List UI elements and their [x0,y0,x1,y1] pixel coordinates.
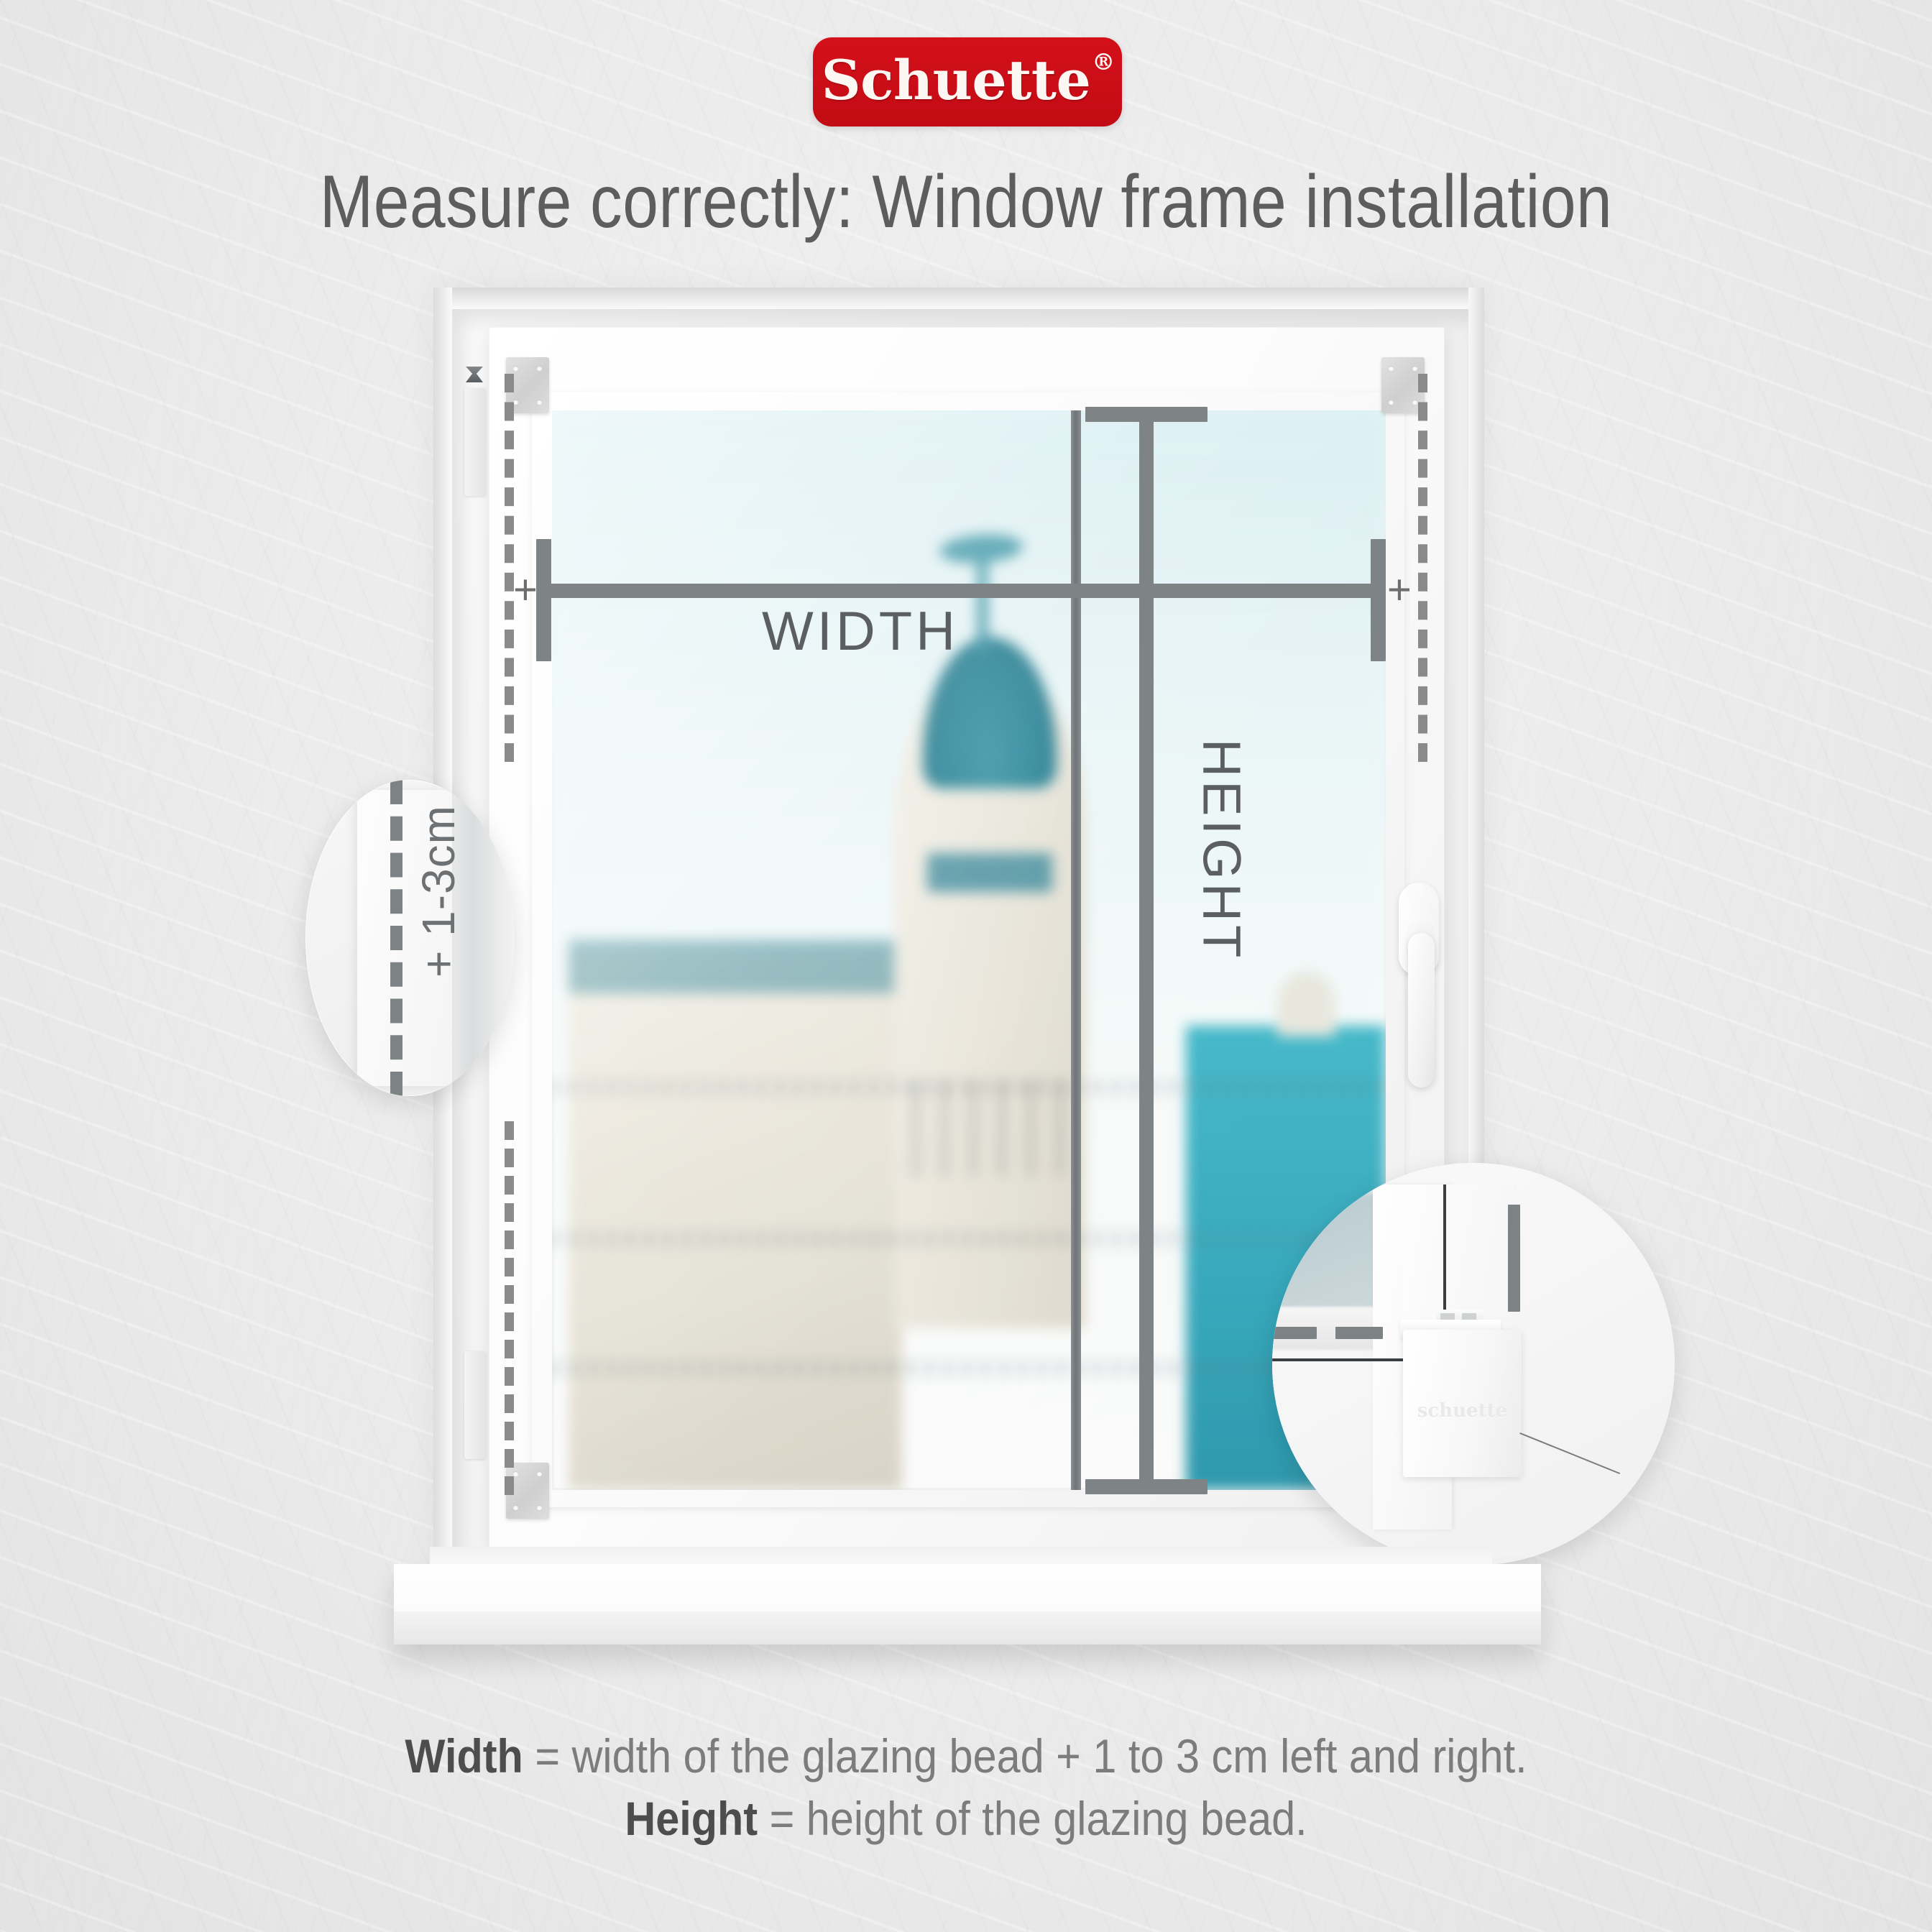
height-measure-bar [1139,407,1154,1494]
bracket-detail-magnifier: schuette [1272,1163,1675,1565]
window-mullion [1071,410,1082,1490]
width-measure-bar [536,584,1386,598]
plus-marker-right: + [1387,569,1412,611]
height-end-cap-bottom [1085,1479,1207,1494]
detail-seam-horizontal [1272,1358,1403,1361]
window-sill [394,1564,1541,1644]
building-window-row [552,1361,1386,1376]
dashed-guide-right [1418,374,1427,762]
width-end-cap-left [536,539,551,661]
caption-line-height: Height = height of the glazing bead. [96,1788,1835,1850]
left-building [569,950,902,1490]
city-view-image [552,410,1386,1490]
tolerance-magnifier-content: + 1-3cm [305,780,514,1096]
detail-seam-vertical [1443,1184,1446,1321]
magnifier-dashed-line [390,780,402,1096]
reveal-bevel-top [433,287,1484,309]
caption-height-text: = height of the glazing bead. [758,1792,1307,1845]
brand-name: Schuette [822,53,1091,108]
sill-top-surface [394,1564,1541,1611]
dashed-guide-left-lower [505,1121,514,1495]
bracket-detail-content: schuette [1272,1163,1675,1565]
detail-frame-upper [1402,1184,1517,1328]
caption-height-label: Height [625,1792,758,1845]
right-dome [1277,972,1335,1036]
tolerance-magnifier: + 1-3cm [305,780,514,1096]
tolerance-label: + 1-3cm [412,783,465,999]
sill-front-edge [394,1611,1541,1644]
brand-logo: Schuette ® [813,37,1122,126]
caption-block: Width = width of the glazing bead + 1 to… [0,1725,1932,1850]
detail-dash-segment [1508,1260,1520,1312]
detail-dash-segment [1335,1327,1383,1339]
handle-lever [1408,933,1435,1087]
width-label: WIDTH [762,600,959,663]
detail-brand-text: schuette [1403,1400,1522,1422]
page-title: Measure correctly: Window frame installa… [135,160,1797,245]
left-building-roof [569,939,902,993]
window-glass [552,410,1386,1490]
building-window-row [552,1231,1386,1246]
width-end-cap-right [1371,539,1386,661]
plus-marker-left: + [513,569,538,611]
poster-canvas: Schuette ® Measure correctly: Window fra… [0,0,1932,1932]
glazing-bead [552,410,1386,1490]
hinge-plate-bottom [464,1351,486,1459]
caption-width-text: = width of the glazing bead + 1 to 3 cm … [523,1729,1527,1782]
window-handle[interactable] [1399,883,1439,1091]
caption-width-label: Width [405,1729,523,1782]
registered-mark-icon: ® [1092,48,1115,75]
sill-lip [430,1547,1492,1565]
height-label: HEIGHT [1192,699,1253,1001]
tower-band [927,853,1052,892]
caption-line-width: Width = width of the glazing bead + 1 to… [96,1725,1835,1788]
hinge-plate-top [464,388,486,496]
detail-dash-segment [1272,1327,1317,1339]
tower-columns [911,1080,1077,1177]
